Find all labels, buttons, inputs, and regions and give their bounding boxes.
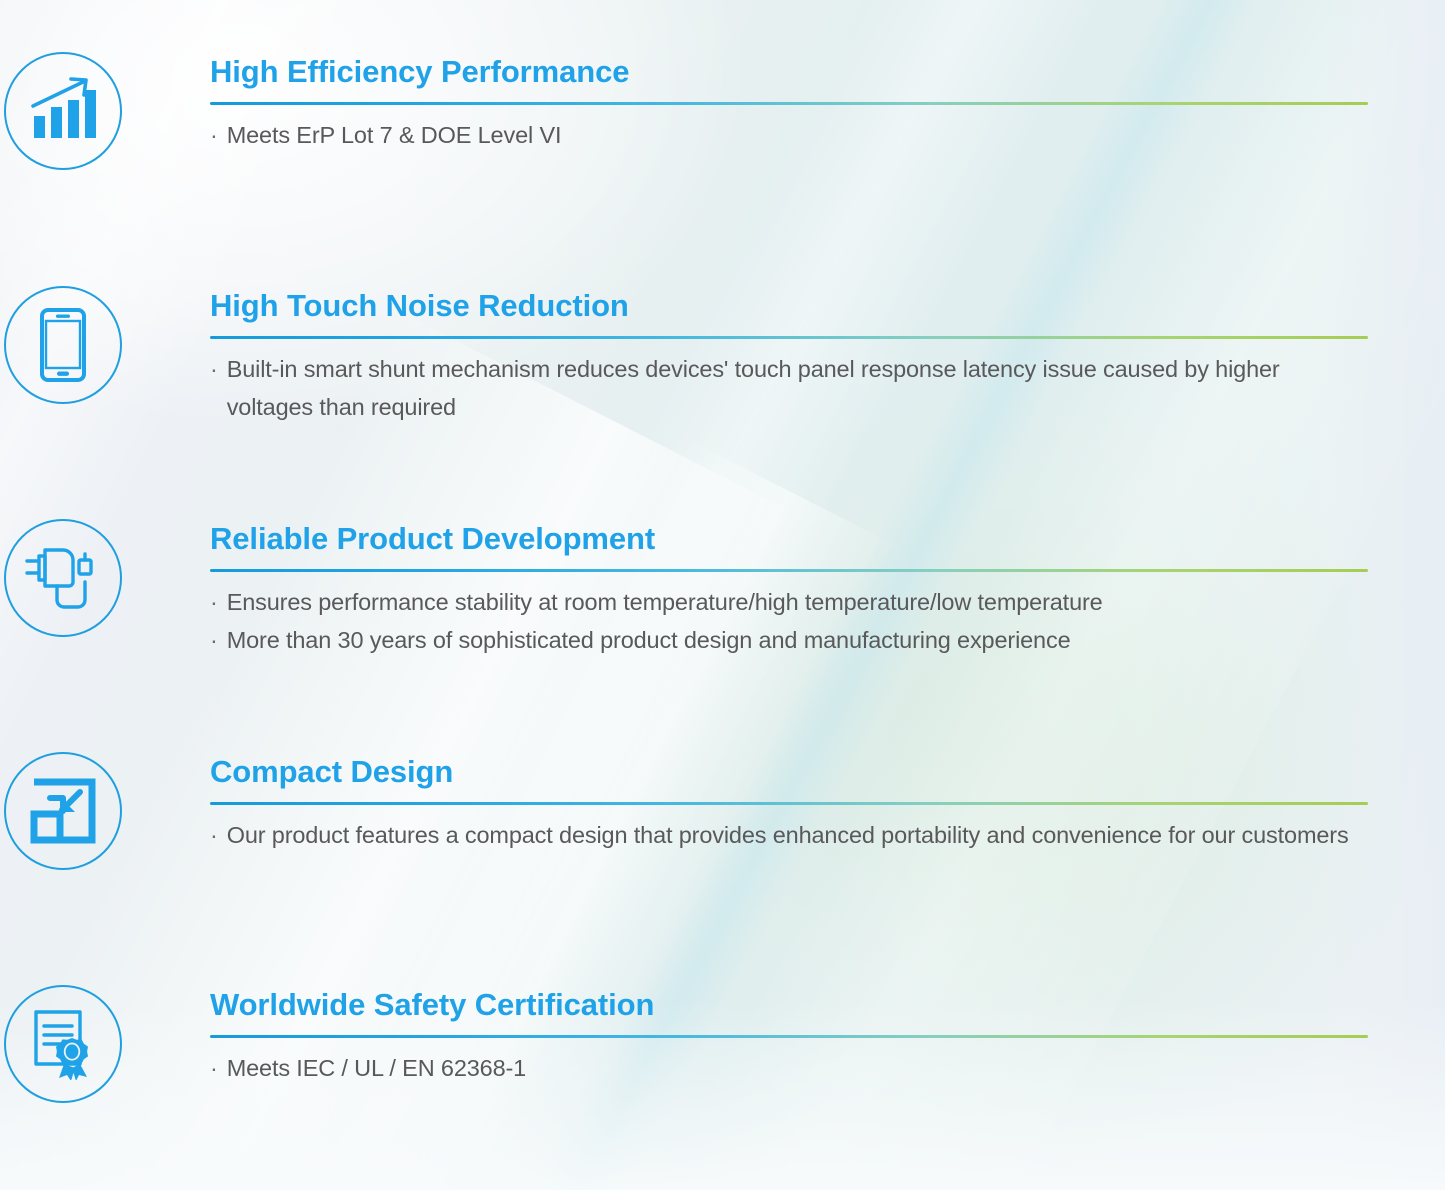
feature-title: High Efficiency Performance [210,54,1368,91]
bar-chart-growth-icon [4,52,122,170]
feature-divider [210,336,1368,339]
compact-resize-icon [4,752,122,870]
bullet-text: Ensures performance stability at room te… [227,583,1368,621]
bullet-mark: · [210,116,218,154]
feature-title: Compact Design [210,754,1368,791]
feature-icon-container [0,517,126,637]
feature-bullet-list: · Built-in smart shunt mechanism reduces… [210,350,1368,426]
smartphone-icon [4,286,122,404]
feature-divider [210,569,1368,572]
bullet-mark: · [210,583,218,621]
feature-bullet-list: · Meets ErP Lot 7 & DOE Level VI [210,116,1368,154]
power-adapter-icon [4,519,122,637]
feature-bullet: · Built-in smart shunt mechanism reduces… [210,350,1368,426]
feature-row: Worldwide Safety Certification · Meets I… [0,983,1445,1103]
bullet-text: Built-in smart shunt mechanism reduces d… [227,350,1368,426]
feature-bullet: · Ensures performance stability at room … [210,583,1368,621]
feature-content: High Touch Noise Reduction · Built-in sm… [126,284,1445,426]
feature-bullet-list: · Our product features a compact design … [210,816,1368,854]
bullet-text: Our product features a compact design th… [227,816,1368,854]
feature-divider [210,102,1368,105]
feature-icon-container [0,750,126,870]
feature-bullet: · Meets ErP Lot 7 & DOE Level VI [210,116,1368,154]
feature-content: High Efficiency Performance · Meets ErP … [126,50,1445,154]
feature-content: Reliable Product Development · Ensures p… [126,517,1445,659]
feature-row: High Touch Noise Reduction · Built-in sm… [0,284,1445,426]
feature-row: Compact Design · Our product features a … [0,750,1445,870]
bullet-mark: · [210,350,218,388]
feature-title: Worldwide Safety Certification [210,987,1368,1024]
feature-title: Reliable Product Development [210,521,1368,558]
bullet-mark: · [210,1049,218,1087]
feature-bullet: · Meets IEC / UL / EN 62368-1 [210,1049,1368,1087]
feature-row: High Efficiency Performance · Meets ErP … [0,50,1445,170]
feature-divider [210,802,1368,805]
feature-row: Reliable Product Development · Ensures p… [0,517,1445,659]
bullet-text: More than 30 years of sophisticated prod… [227,621,1368,659]
feature-title: High Touch Noise Reduction [210,288,1368,325]
certificate-seal-icon [4,985,122,1103]
feature-content: Compact Design · Our product features a … [126,750,1445,854]
bullet-text: Meets ErP Lot 7 & DOE Level VI [227,116,1368,154]
feature-bullet: · Our product features a compact design … [210,816,1368,854]
bullet-text: Meets IEC / UL / EN 62368-1 [227,1049,1368,1087]
feature-bullet: · More than 30 years of sophisticated pr… [210,621,1368,659]
feature-bullet-list: · Ensures performance stability at room … [210,583,1368,659]
bullet-mark: · [210,621,218,659]
feature-bullet-list: · Meets IEC / UL / EN 62368-1 [210,1049,1368,1087]
feature-divider [210,1035,1368,1038]
feature-icon-container [0,983,126,1103]
feature-icon-container [0,50,126,170]
bullet-mark: · [210,816,218,854]
feature-content: Worldwide Safety Certification · Meets I… [126,983,1445,1087]
feature-icon-container [0,284,126,404]
